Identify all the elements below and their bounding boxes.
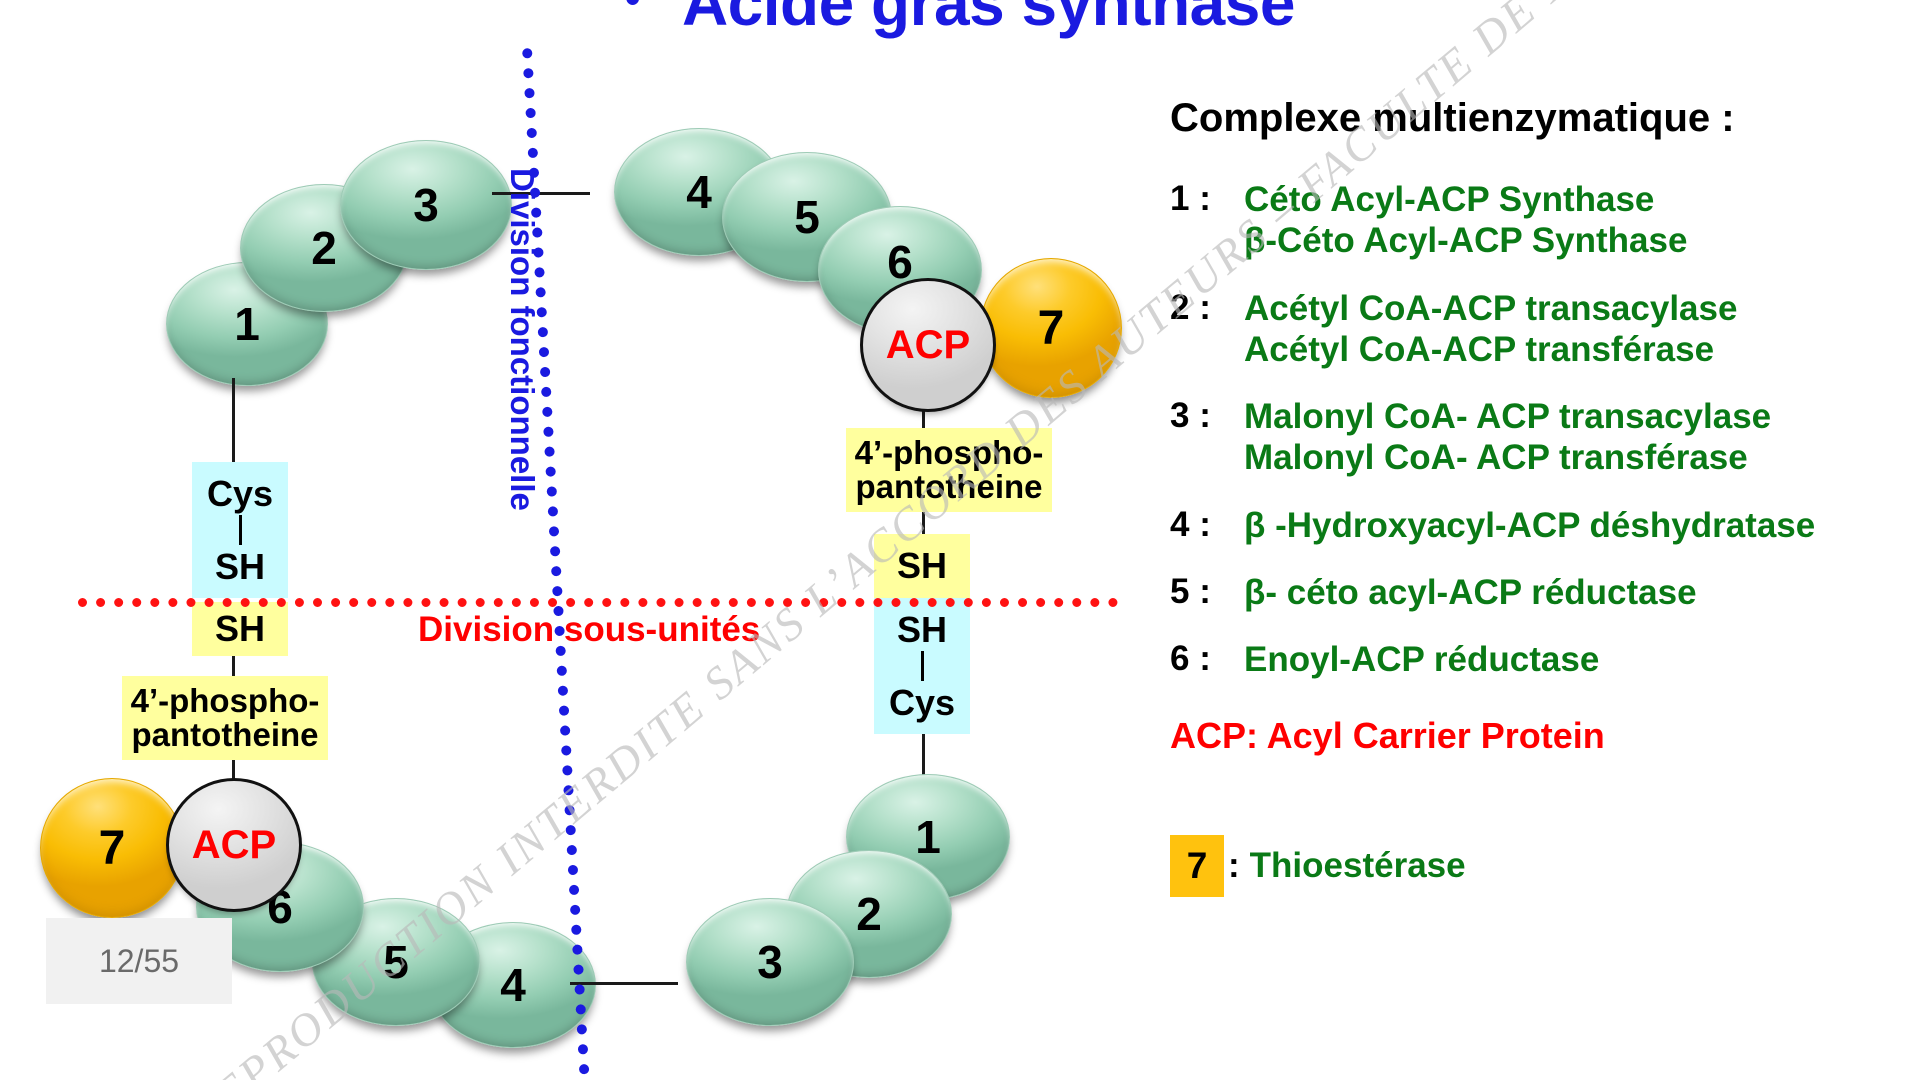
enzyme-node-bottom-3: 3 [686,898,854,1026]
legend-item-body: Enoyl-ACP réductase [1244,639,1599,680]
thioesterase-label: Thioestérase [1250,845,1466,886]
subunit-division-label: Division sous-unités [418,610,760,650]
connector-left-stem [232,378,235,462]
connector-left-lower [232,656,235,678]
legend-item-number: 5 : [1170,572,1244,612]
legend-item-4: 4 :β -Hydroxyacyl-ACP déshydratase [1170,505,1890,546]
enzyme-node-label: 5 [794,190,820,244]
legend-item-body: β -Hydroxyacyl-ACP déshydratase [1244,505,1815,546]
pantotheine-box-left: 4’-phospho- pantotheine [122,676,328,760]
sh-box-left: SH [192,602,288,656]
legend-item-line: Acétyl CoA-ACP transférase [1244,329,1737,370]
legend-item-line: β -Hydroxyacyl-ACP déshydratase [1244,505,1815,546]
pantotheine-label: 4’-phospho- pantotheine [855,436,1044,505]
page-indicator-text: 12/55 [99,943,179,980]
enzyme-node-label: 4 [686,165,712,219]
cys-sh-box-left: Cys SH [192,462,288,598]
legend-item-line: Céto Acyl-ACP Synthase [1244,179,1687,220]
acp-label: ACP [886,323,970,368]
cys-label: Cys [207,475,273,512]
enzyme-node-label: 5 [383,935,409,989]
acp-node-top: ACP [860,278,996,412]
legend-item-line: Enoyl-ACP réductase [1244,639,1599,680]
thioesterase-label: 7 [99,821,126,876]
subunit-division-line [78,598,1118,607]
legend-item-line: β-Céto Acyl-ACP Synthase [1244,220,1687,261]
enzyme-node-label: 1 [915,810,941,864]
legend-title: Complexe multienzymatique : [1170,96,1890,141]
slide-canvas: • Acide gras synthase 1 2 3 4 5 6 ACP [0,0,1920,1080]
enzyme-node-label: 3 [757,935,783,989]
bond-tick [239,515,242,545]
thioesterase-badge: 7 [1170,835,1224,897]
enzyme-node-label: 4 [500,958,526,1012]
thioesterase-legend-row: 7 : Thioestérase [1170,835,1890,897]
legend-item-body: Acétyl CoA-ACP transacylaseAcétyl CoA-AC… [1244,288,1737,371]
legend-item-line: Malonyl CoA- ACP transacylase [1244,396,1771,437]
cys-label: Cys [889,684,955,721]
sh-label: SH [897,611,947,648]
legend-item-number: 3 : [1170,396,1244,436]
enzyme-node-top-3: 3 [340,140,512,270]
enzyme-node-label: 2 [311,221,337,275]
legend-item-body: β- céto acyl-ACP réductase [1244,572,1697,613]
legend-item-1: 1 :Céto Acyl-ACP Synthaseβ-Céto Acyl-ACP… [1170,179,1890,262]
pantotheine-label: 4’-phospho- pantotheine [131,684,320,753]
acp-definition: ACP: Acyl Carrier Protein [1170,715,1890,757]
pantotheine-box-right: 4’-phospho- pantotheine [846,428,1052,512]
legend-item-number: 4 : [1170,505,1244,545]
legend-item-3: 3 :Malonyl CoA- ACP transacylaseMalonyl … [1170,396,1890,479]
sh-label: SH [215,548,265,585]
enzyme-node-label: 2 [856,887,882,941]
acp-label: ACP [192,823,276,868]
legend-item-body: Malonyl CoA- ACP transacylaseMalonyl CoA… [1244,396,1771,479]
legend-item-2: 2 :Acétyl CoA-ACP transacylaseAcétyl CoA… [1170,288,1890,371]
bond-tick [921,651,924,681]
thioesterase-node-top: 7 [980,258,1122,398]
legend-item-list: 1 :Céto Acyl-ACP Synthaseβ-Céto Acyl-ACP… [1170,179,1890,681]
legend-item-line: Malonyl CoA- ACP transférase [1244,437,1771,478]
acp-node-bottom: ACP [166,778,302,912]
legend-item-line: Acétyl CoA-ACP transacylase [1244,288,1737,329]
enzyme-legend: Complexe multienzymatique : 1 :Céto Acyl… [1170,96,1890,897]
legend-item-number: 6 : [1170,639,1244,679]
thioesterase-label: 7 [1038,301,1065,356]
legend-item-number: 2 : [1170,288,1244,328]
thioesterase-colon: : [1228,846,1240,886]
fas-diagram: 1 2 3 4 5 6 ACP 7 Cys SH [0,0,1160,1080]
legend-item-6: 6 :Enoyl-ACP réductase [1170,639,1890,680]
functional-division-label: Division fonctionnelle [503,168,541,511]
legend-item-body: Céto Acyl-ACP Synthaseβ-Céto Acyl-ACP Sy… [1244,179,1687,262]
sh-cys-box-right: SH Cys [874,598,970,734]
sh-label: SH [215,610,265,647]
enzyme-node-label: 3 [413,178,439,232]
sh-box-right: SH [874,534,970,598]
sh-label: SH [897,547,947,584]
thioesterase-node-bottom: 7 [40,778,184,918]
page-indicator: 12/55 [46,918,232,1004]
legend-item-number: 1 : [1170,179,1244,219]
connector-right-mid [922,512,925,534]
enzyme-node-label: 1 [234,297,260,351]
legend-item-line: β- céto acyl-ACP réductase [1244,572,1697,613]
legend-item-5: 5 :β- céto acyl-ACP réductase [1170,572,1890,613]
